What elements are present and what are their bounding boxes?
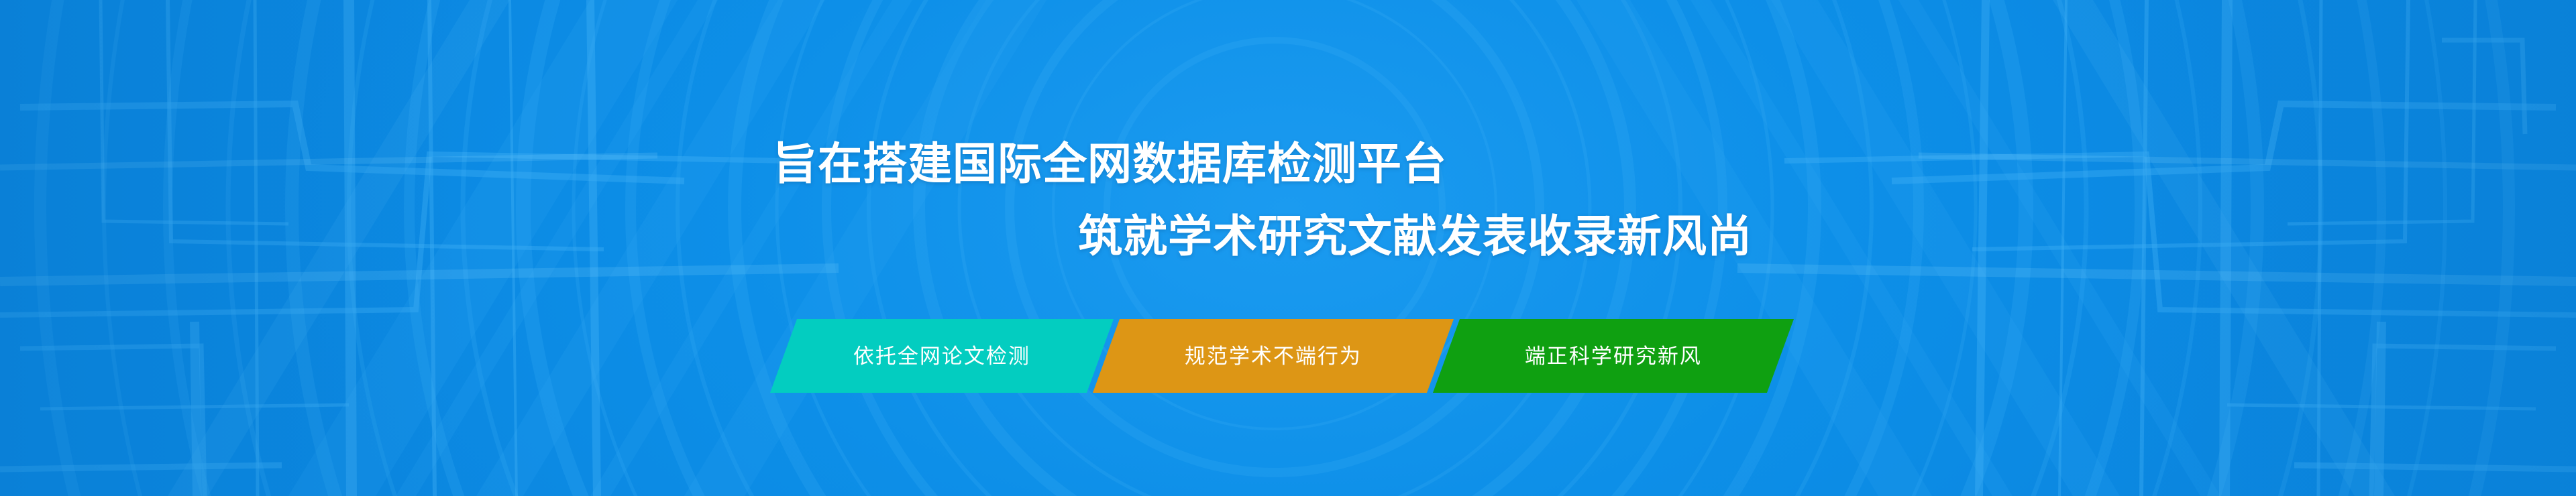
hero-banner: 旨在搭建国际全网数据库检测平台 筑就学术研究文献发表收录新风尚 依托全网论文检测… — [0, 0, 2576, 496]
headline-block: 旨在搭建国际全网数据库检测平台 筑就学术研究文献发表收录新风尚 — [0, 127, 2576, 272]
feature-badge-1-label: 依托全网论文检测 — [853, 346, 1030, 367]
feature-badge-3[interactable]: 端正科学研究新风 — [1433, 319, 1794, 393]
feature-badge-row: 依托全网论文检测 规范学术不端行为 端正科学研究新风 — [784, 319, 1780, 393]
feature-badge-3-label: 端正科学研究新风 — [1525, 346, 1702, 367]
feature-badge-2[interactable]: 规范学术不端行为 — [1093, 319, 1454, 393]
feature-badge-1[interactable]: 依托全网论文检测 — [770, 319, 1114, 393]
headline-line-2: 筑就学术研究文献发表收录新风尚 — [0, 200, 2576, 272]
feature-badge-2-label: 规范学术不端行为 — [1185, 346, 1362, 367]
headline-line-1: 旨在搭建国际全网数据库检测平台 — [0, 127, 2576, 200]
